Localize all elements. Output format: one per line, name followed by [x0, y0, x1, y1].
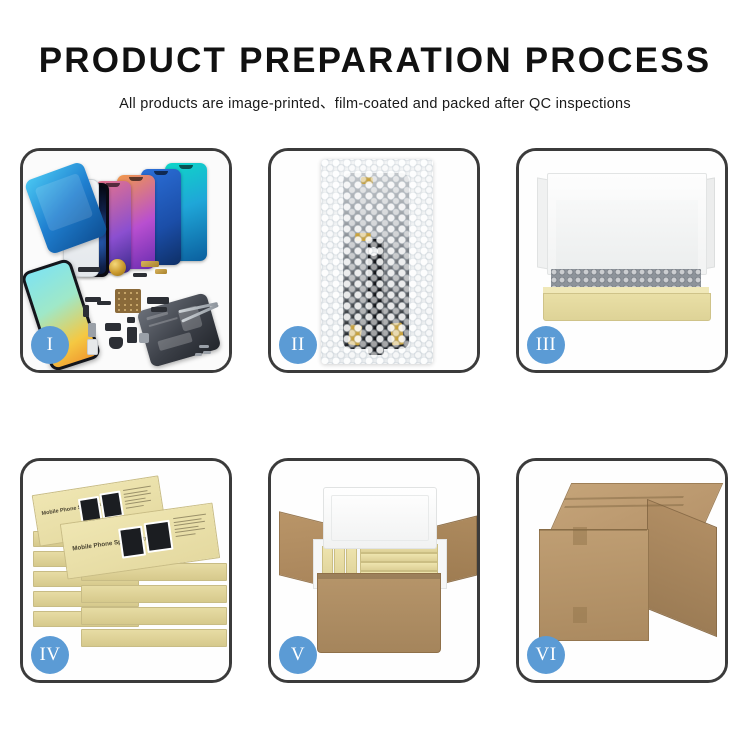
process-step-panel-6: VI: [516, 458, 728, 683]
header: PRODUCT PREPARATION PROCESS All products…: [0, 0, 750, 113]
foam-sheet-icon: [547, 173, 707, 275]
tape-strip-lower: [573, 607, 587, 623]
step-badge: IV: [31, 636, 69, 674]
step-badge: III: [527, 326, 565, 364]
process-step-grid: I II: [20, 148, 730, 691]
sealed-carton-icon: [539, 483, 715, 647]
carton-body: [317, 573, 441, 653]
process-step-panel-2: II: [268, 148, 480, 373]
step-badge: I: [31, 326, 69, 364]
step-badge: V: [279, 636, 317, 674]
wireless-coil-icon: [109, 259, 126, 276]
step-badge: VI: [527, 636, 565, 674]
foam-lid-icon: [323, 487, 437, 549]
process-step-panel-4: Mobile Phone Spare Parts Mobile Phone Sp…: [20, 458, 232, 683]
page-subtitle: All products are image-printed、film-coat…: [0, 92, 750, 113]
process-step-panel-3: III: [516, 148, 728, 373]
product-preparation-infographic: PRODUCT PREPARATION PROCESS All products…: [0, 0, 750, 750]
bubble-wrap-bag-icon: [321, 159, 433, 364]
page-title: PRODUCT PREPARATION PROCESS: [0, 43, 750, 78]
open-yellow-box-icon: [537, 173, 715, 323]
logic-chip-icon: [115, 289, 141, 313]
step-badge: II: [279, 326, 317, 364]
process-step-panel-1: I: [20, 148, 232, 373]
process-step-panel-5: V: [268, 458, 480, 683]
